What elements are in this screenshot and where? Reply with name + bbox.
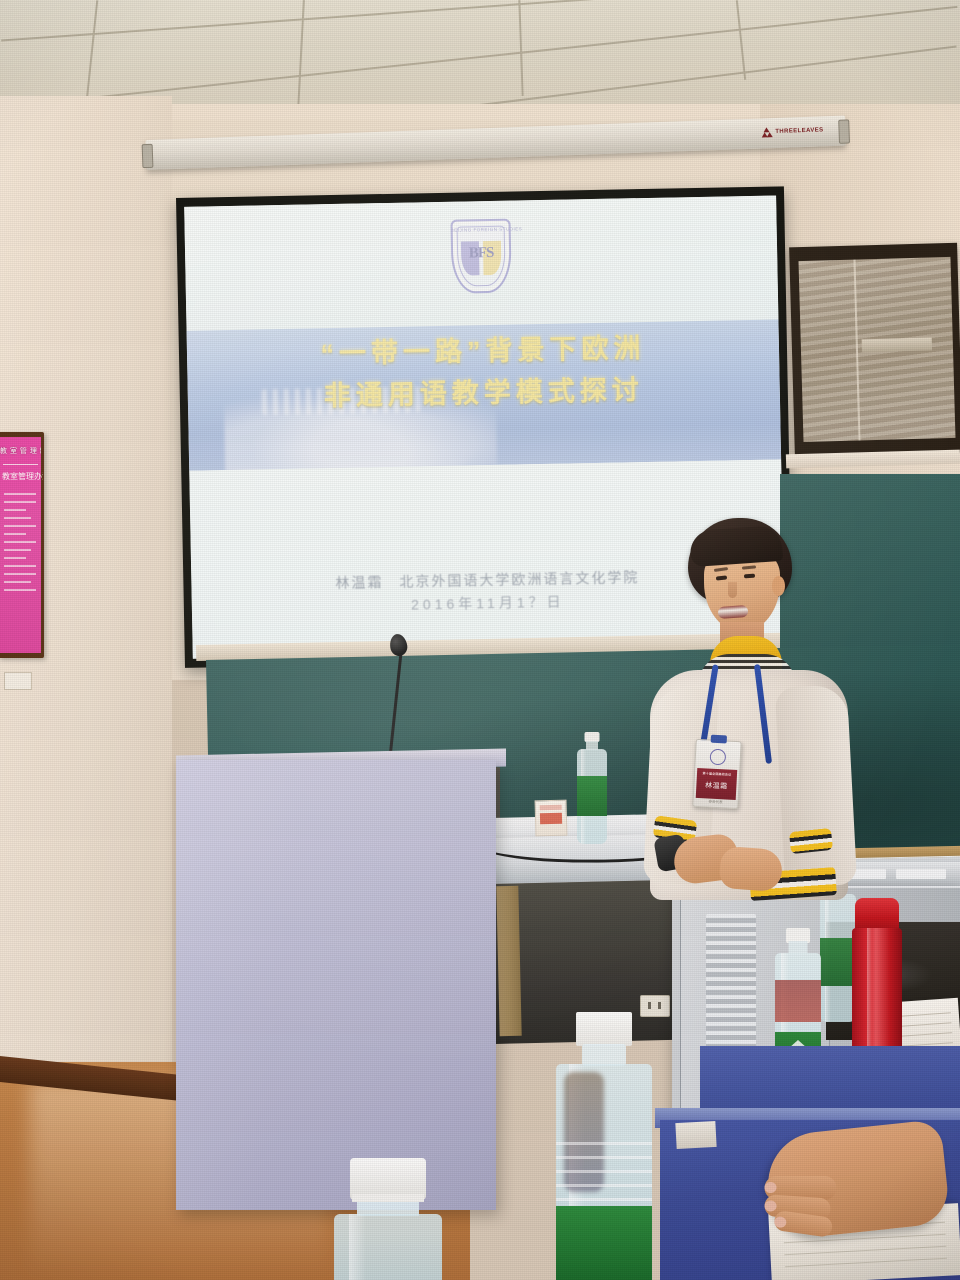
presenter: 第十届全国高校会议 林温霜 参会代表: [632, 518, 868, 898]
slide-title-line-2: 非通用语教学模式探讨: [187, 368, 780, 419]
badge-name-text: 林温霜: [696, 780, 736, 792]
podium: [176, 760, 496, 1210]
bottle-label: [577, 776, 607, 816]
water-bottle-bottom-left[interactable]: [334, 1158, 442, 1280]
presenter-eye-right: [744, 574, 755, 579]
screen-brand: THREELEAVES: [761, 123, 824, 139]
fingernail: [764, 1200, 777, 1212]
front-desk-white-item[interactable]: [675, 1121, 716, 1149]
window-mullion: [853, 260, 860, 441]
presenter-ear: [772, 576, 785, 596]
presenter-hand-right: [719, 846, 784, 892]
badge-color-band: 第十届全国高校会议 林温霜: [696, 768, 738, 800]
bottle-ridges: [556, 1142, 652, 1202]
wall-small-card: [4, 672, 32, 690]
bottle-label: [820, 938, 856, 986]
bottle-highlight: [349, 1214, 366, 1280]
photo-scene: 教 室 管 理 制 度 教室管理办法 THREELEAVES: [0, 0, 960, 1280]
slide-title-band: “一带一路”背景下欧洲 非通用语教学模式探讨: [187, 320, 782, 471]
presenter-hair-fringe: [689, 525, 783, 567]
badge-role-text: 参会代表: [693, 799, 737, 806]
badge-logo-icon: [709, 749, 726, 766]
presenter-nose: [728, 582, 737, 598]
thermos-cap: [855, 898, 899, 932]
presenter-arm-right: [775, 684, 857, 887]
bottle-cap-ring: [352, 1194, 424, 1202]
presenter-mouth: [718, 605, 749, 619]
tissue-box[interactable]: [535, 800, 568, 837]
water-bottle-on-desk[interactable]: [577, 732, 607, 844]
bottle-body: [334, 1214, 442, 1280]
wall-window-panel: [789, 243, 960, 458]
fingernail: [765, 1182, 777, 1193]
shield-letters: BFS: [451, 245, 511, 263]
name-badge: 第十届全国高校会议 林温霜 参会代表: [692, 739, 741, 809]
bottle-cap: [576, 1012, 632, 1046]
notice-board-title: 教室管理办法: [2, 471, 43, 482]
water-bottle-foreground[interactable]: [556, 1012, 652, 1280]
bfsu-shield-icon: BEIJING FOREIGN STUDIES BFS: [450, 219, 511, 294]
presenter-cuff-right: [789, 828, 833, 854]
badge-organization: 第十届全国高校会议: [697, 771, 737, 777]
screen-brand-text: THREELEAVES: [775, 127, 823, 135]
fingernail: [774, 1216, 787, 1229]
notice-divider: [3, 464, 38, 465]
casing-bracket-left: [142, 144, 154, 168]
bottle-neck: [582, 1044, 626, 1066]
bottle-inner-refraction: [775, 980, 821, 1022]
badge-clip: [711, 735, 727, 744]
wall-notice-board: 教 室 管 理 制 度 教室管理办法: [0, 432, 44, 658]
notice-board-header: 教 室 管 理 制 度: [0, 443, 41, 461]
desk-leg: [496, 886, 521, 1036]
notice-board-text-lines: [4, 493, 36, 597]
notice-board-sheet: 教 室 管 理 制 度 教室管理办法: [0, 437, 41, 653]
bottle-label: [556, 1206, 652, 1280]
window-latch: [861, 337, 931, 352]
window-glass: [798, 257, 955, 442]
three-leaves-logo-icon: [761, 127, 772, 137]
casing-bracket-right: [838, 119, 850, 143]
front-desk-back-edge: [700, 1046, 960, 1116]
